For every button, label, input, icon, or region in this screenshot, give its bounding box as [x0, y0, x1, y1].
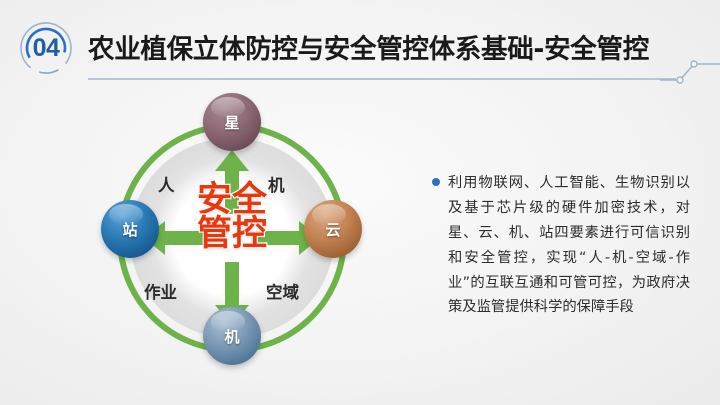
- node-station[interactable]: 站: [101, 200, 159, 258]
- bullet-item: 利用物联网、人工智能、生物识别以及基于芯片级的硬件加密技术，对星、云、机、站四要…: [432, 171, 690, 320]
- bullet-text: 利用物联网、人工智能、生物识别以及基于芯片级的硬件加密技术，对星、云、机、站四要…: [448, 171, 690, 320]
- content-block: 利用物联网、人工智能、生物识别以及基于芯片级的硬件加密技术，对星、云、机、站四要…: [432, 171, 690, 320]
- bullet-dot-icon: [432, 178, 440, 186]
- decorative-connector-icon: [660, 48, 720, 88]
- node-star[interactable]: 星: [203, 93, 261, 151]
- corner-label-airspace: 空域: [266, 279, 299, 303]
- corner-label-operation: 作业: [144, 279, 177, 303]
- page-title: 农业植保立体防控与安全管控体系基础-安全管控: [88, 27, 649, 66]
- node-cloud[interactable]: 云: [304, 200, 362, 258]
- section-number-label: 04: [17, 19, 75, 77]
- safety-control-diagram: 星 云 机 站 安全 管控 人 机 作业 空域: [82, 88, 382, 388]
- center-label-line2: 管控: [168, 217, 296, 251]
- corner-label-machine: 机: [268, 172, 285, 196]
- node-station-label: 站: [122, 219, 137, 240]
- corner-label-person: 人: [158, 172, 175, 196]
- node-machine-label: 机: [224, 326, 239, 347]
- node-star-label: 星: [224, 112, 239, 133]
- title-underline: [88, 78, 676, 80]
- section-number-badge: 04: [17, 19, 75, 77]
- slide-canvas: 04 农业植保立体防控与安全管控体系基础-安全管控: [0, 0, 720, 405]
- node-cloud-label: 云: [325, 219, 340, 240]
- node-machine[interactable]: 机: [203, 307, 261, 365]
- slide-header: 04 农业植保立体防控与安全管控体系基础-安全管控: [0, 0, 720, 92]
